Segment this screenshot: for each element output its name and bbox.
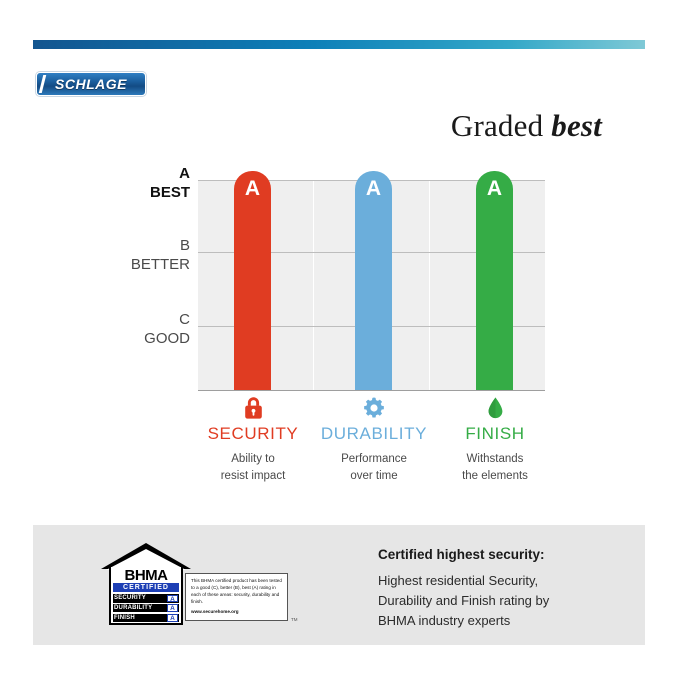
y-tick-better-name: BETTER [108,256,190,275]
category-finish-description: Withstands the elements [420,451,570,484]
category-finish-description-line2: the elements [462,470,528,482]
bhma-certified-bar: CERTIFIED [113,583,179,592]
chart-x-axis [198,390,545,391]
certification-panel: BHMA CERTIFIED SECURITY A DURABILITY A F… [33,525,645,645]
y-tick-good-name: GOOD [108,330,190,349]
y-tick-best-name: BEST [108,184,190,203]
bhma-row-security: SECURITY A [113,594,179,603]
category-security-description-line2: resist impact [221,470,286,482]
bar-security: A [234,171,271,390]
bhma-row-durability: DURABILITY A [113,604,179,613]
bhma-note-text: This BHMA certified product has been tes… [191,578,282,604]
bhma-trademark: TM [291,617,298,622]
bhma-row-finish-label: FINISH [114,615,135,621]
grid-vline [429,180,430,390]
category-finish: FINISH Withstands the elements [420,394,570,484]
bar-finish: A [476,171,513,390]
category-finish-description-line1: Withstands [467,453,524,465]
bhma-title: BHMA [111,568,181,583]
bhma-row-security-grade: A [167,595,178,602]
bar-durability: A [355,171,392,390]
category-security-description-line1: Ability to [231,453,274,465]
y-tick-better-grade: B [108,237,190,256]
y-tick-best: A BEST [108,165,190,203]
y-tick-good: C GOOD [108,311,190,349]
bhma-row-durability-label: DURABILITY [114,605,152,611]
infographic-page: SCHLAGE Graded best A BEST B BETTER C GO… [0,0,675,675]
y-tick-better: B BETTER [108,237,190,275]
certification-body-line2: Durability and Finish rating by [378,593,549,608]
bhma-certified-badge: BHMA CERTIFIED SECURITY A DURABILITY A F… [101,543,296,631]
y-tick-best-grade: A [108,165,190,184]
certification-body-line1: Highest residential Security, [378,573,538,588]
water-drop-icon [420,394,570,420]
grid-vline [313,180,314,390]
bar-finish-grade: A [476,177,513,201]
certification-body-line3: BHMA industry experts [378,613,510,628]
bhma-note-box: This BHMA certified product has been tes… [185,573,288,621]
y-tick-good-grade: C [108,311,190,330]
bhma-row-durability-grade: A [167,604,178,611]
bhma-row-finish-grade: A [167,614,178,621]
bhma-rating-rows: SECURITY A DURABILITY A FINISH A [113,594,179,623]
category-finish-name: FINISH [420,424,570,444]
category-durability-description-line1: Performance [341,453,407,465]
bhma-row-security-label: SECURITY [114,595,146,601]
bhma-row-finish: FINISH A [113,614,179,623]
certification-title: Certified highest security: [378,547,628,562]
certification-body: Highest residential Security, Durability… [378,571,628,631]
certification-copy: Certified highest security: Highest resi… [378,547,628,631]
bhma-note-url[interactable]: www.securehome.org [191,609,282,616]
category-durability-description-line2: over time [350,470,397,482]
bar-durability-grade: A [355,177,392,201]
bar-security-grade: A [234,177,271,201]
